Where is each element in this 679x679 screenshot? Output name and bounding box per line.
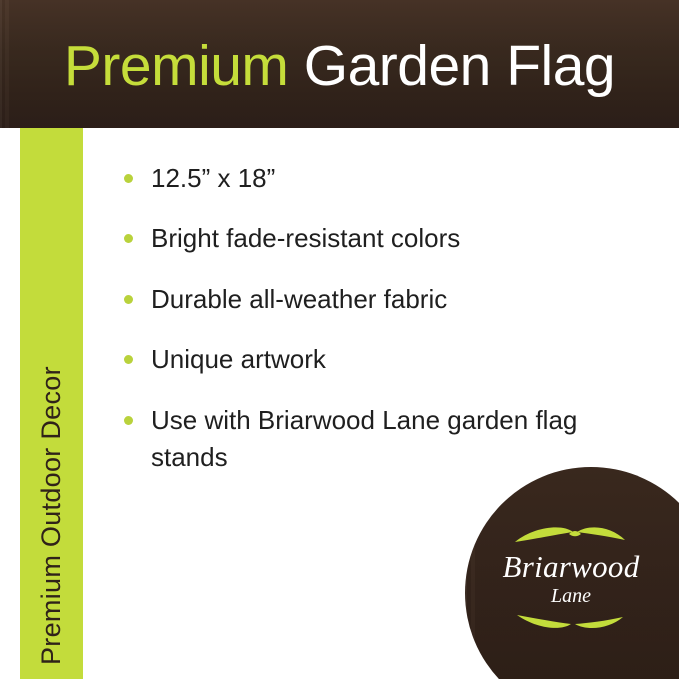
- brand-subname: Lane: [551, 586, 591, 606]
- list-item: Durable all-weather fabric: [118, 281, 618, 318]
- header-bar: Premium Garden Flag: [0, 0, 679, 128]
- list-item: Unique artwork: [118, 341, 618, 378]
- list-item-label: Durable all-weather fabric: [151, 284, 447, 314]
- product-feature-poster: Premium Garden Flag Premium Outdoor Deco…: [0, 0, 679, 679]
- bullet-icon: [124, 295, 133, 304]
- bullet-icon: [124, 416, 133, 425]
- bullet-icon: [124, 174, 133, 183]
- title-rest-words: Garden Flag: [288, 34, 615, 98]
- list-item-label: Use with Briarwood Lane garden flag stan…: [151, 405, 577, 472]
- leaf-flourish-icon: [511, 524, 631, 548]
- list-item: 12.5” x 18”: [118, 160, 618, 197]
- title-highlight-word: Premium: [64, 34, 289, 98]
- brand-logo-inner: Briarwood Lane: [502, 524, 639, 633]
- list-item-label: 12.5” x 18”: [151, 163, 275, 193]
- bullet-icon: [124, 234, 133, 243]
- brand-name: Briarwood: [502, 551, 639, 582]
- content-panel: 12.5” x 18” Bright fade-resistant colors…: [83, 128, 679, 679]
- list-item-label: Bright fade-resistant colors: [151, 223, 460, 253]
- side-band-label: Premium Outdoor Decor: [20, 128, 83, 679]
- feature-list: 12.5” x 18” Bright fade-resistant colors…: [118, 160, 618, 500]
- list-item: Use with Briarwood Lane garden flag stan…: [118, 402, 618, 477]
- list-item: Bright fade-resistant colors: [118, 220, 618, 257]
- bullet-icon: [124, 355, 133, 364]
- leaf-flourish-icon: [511, 611, 631, 633]
- list-item-label: Unique artwork: [151, 344, 326, 374]
- page-title: Premium Garden Flag: [64, 38, 615, 95]
- side-band: Premium Outdoor Decor: [20, 128, 83, 679]
